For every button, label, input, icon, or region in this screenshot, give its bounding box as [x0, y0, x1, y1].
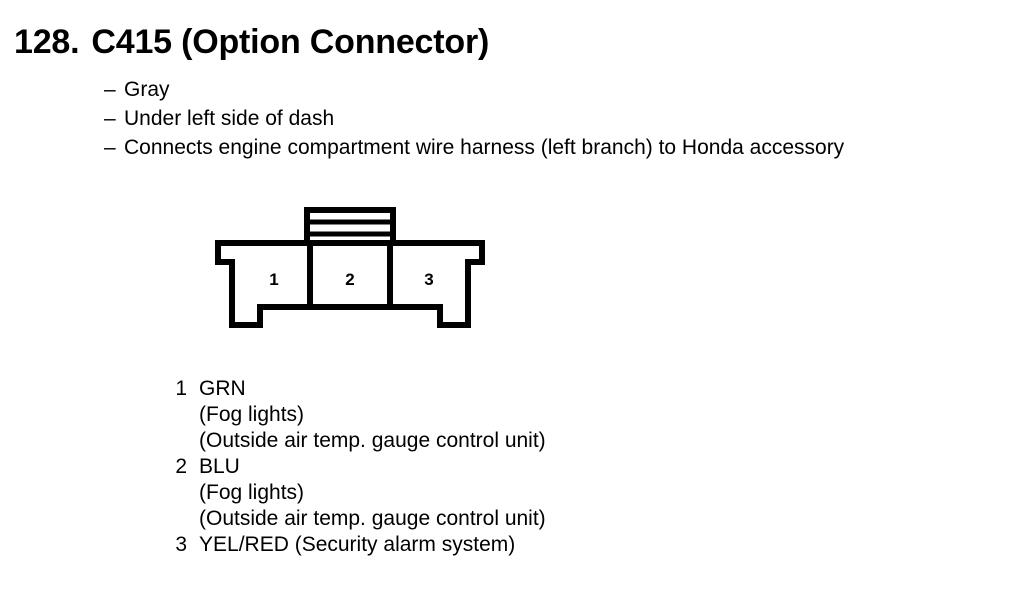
- cavity-label-2: 2: [345, 270, 354, 289]
- pin-wire-color: GRN: [187, 376, 246, 402]
- list-item-label: Connects engine compartment wire harness…: [124, 133, 844, 162]
- pin-number: 2: [155, 454, 187, 480]
- list-item-label: Gray: [124, 75, 170, 104]
- dash-icon: –: [104, 133, 124, 162]
- pin-note: (Fog lights): [155, 480, 546, 506]
- list-item: – Under left side of dash: [104, 104, 844, 133]
- dash-icon: –: [104, 104, 124, 133]
- pin-row: 2 BLU: [155, 454, 546, 480]
- list-item: 3 YEL/RED (Security alarm system): [155, 532, 546, 558]
- page-title: 128.C415 (Option Connector): [14, 22, 489, 62]
- connector-description-list: – Gray – Under left side of dash – Conne…: [104, 75, 844, 162]
- pin-note: (Outside air temp. gauge control unit): [155, 428, 546, 454]
- page-title-number: 128.: [14, 23, 79, 61]
- locking-tab-outline: [307, 210, 393, 243]
- pin-row: 3 YEL/RED (Security alarm system): [155, 532, 546, 558]
- list-item-label: Under left side of dash: [124, 104, 334, 133]
- connector-diagram: 1 2 3: [200, 195, 500, 340]
- dash-icon: –: [104, 75, 124, 104]
- list-item: – Connects engine compartment wire harne…: [104, 133, 844, 162]
- pin-note: (Fog lights): [155, 402, 546, 428]
- pin-wire-color: YEL/RED (Security alarm system): [187, 532, 515, 558]
- cavity-label-3: 3: [424, 270, 433, 289]
- pin-number: 1: [155, 376, 187, 402]
- cavity-label-1: 1: [269, 270, 278, 289]
- pin-number: 3: [155, 532, 187, 558]
- list-item: – Gray: [104, 75, 844, 104]
- pin-assignment-list: 1 GRN (Fog lights) (Outside air temp. ga…: [155, 376, 546, 558]
- pin-wire-color: BLU: [187, 454, 240, 480]
- connector-datasheet-page: 128.C415 (Option Connector) – Gray – Und…: [0, 0, 1024, 592]
- page-title-name: C415 (Option Connector): [91, 23, 489, 61]
- pin-note: (Outside air temp. gauge control unit): [155, 506, 546, 532]
- list-item: 1 GRN (Fog lights) (Outside air temp. ga…: [155, 376, 546, 454]
- pin-row: 1 GRN: [155, 376, 546, 402]
- list-item: 2 BLU (Fog lights) (Outside air temp. ga…: [155, 454, 546, 532]
